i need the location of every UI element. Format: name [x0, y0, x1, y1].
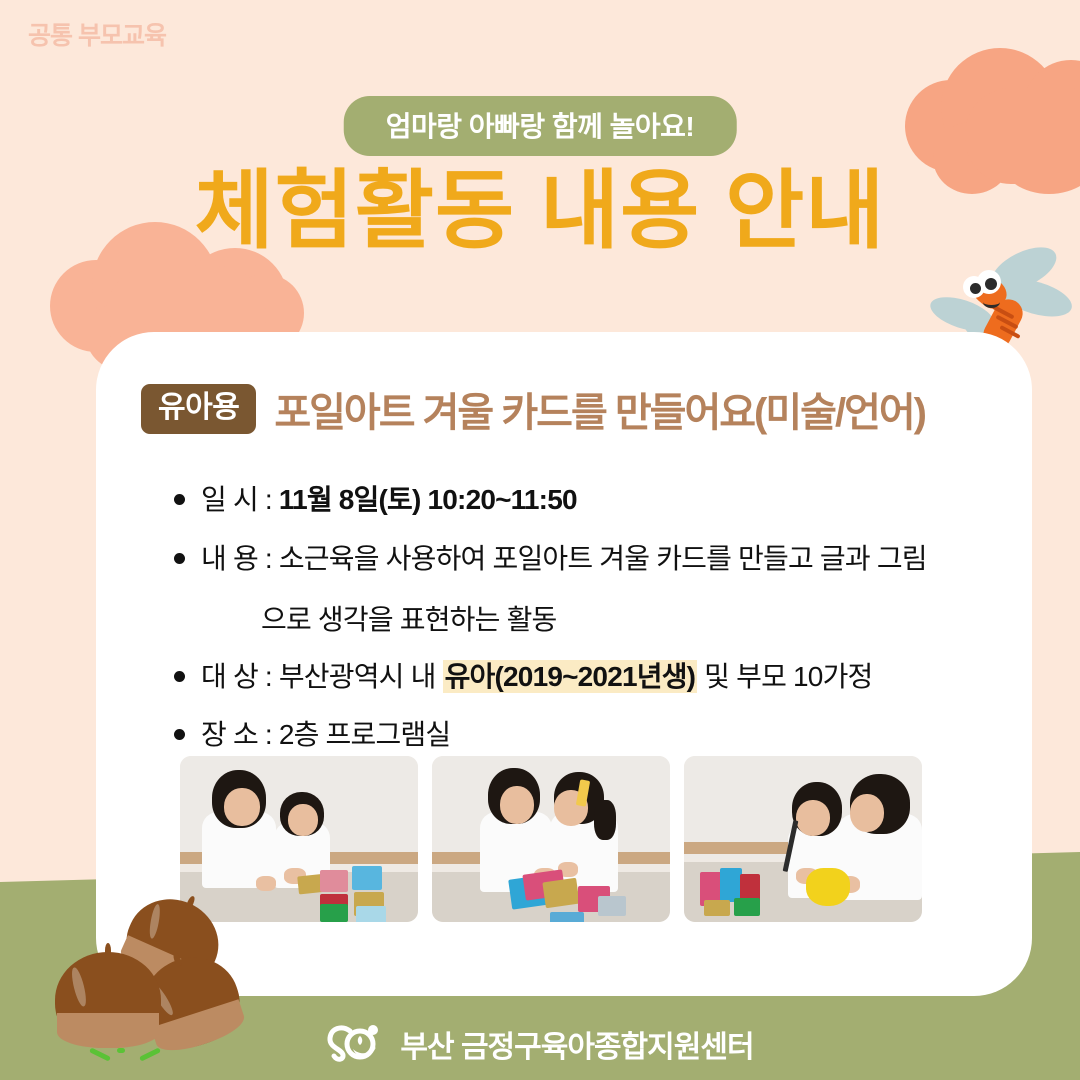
- bullet-dot-icon: [174, 671, 185, 682]
- detail-value-content-continued: 으로 생각을 표현하는 활동: [201, 598, 1004, 638]
- program-card: 유아용 포일아트 겨울 카드를 만들어요(미술/언어) 일 시 : 11월 8일…: [96, 332, 1032, 996]
- bullet-dot-icon: [174, 729, 185, 740]
- program-title: 포일아트 겨울 카드를 만들어요(미술/언어): [274, 380, 925, 438]
- detail-value-datetime: 11월 8일(토) 10:20~11:50: [279, 484, 577, 515]
- photo-strip: [180, 756, 922, 922]
- detail-value-content: 소근육을 사용하여 포일아트 겨울 카드를 만들고 글과 그림: [279, 543, 927, 574]
- detail-value-audience-post: 및 부모 10가정: [697, 661, 872, 692]
- subtitle-pill: 엄마랑 아빠랑 함께 놀아요!: [344, 96, 737, 156]
- center-logo-icon: [326, 1022, 386, 1066]
- footer-bar: 부산 금정구육아종합지원센터: [0, 1008, 1080, 1080]
- detail-row-content: 내 용 : 소근육을 사용하여 포일아트 겨울 카드를 만들고 글과 그림: [174, 539, 1004, 579]
- detail-label-datetime: 일 시 :: [201, 484, 272, 515]
- detail-row-datetime: 일 시 : 11월 8일(토) 10:20~11:50: [174, 480, 1004, 520]
- activity-photo-1: [180, 756, 418, 922]
- activity-photo-3: [684, 756, 922, 922]
- detail-value-location: 2층 프로그램실: [279, 719, 451, 750]
- detail-label-location: 장 소 :: [201, 719, 272, 750]
- bullet-dot-icon: [174, 553, 185, 564]
- detail-row-location: 장 소 : 2층 프로그램실: [174, 715, 1004, 755]
- detail-value-audience-highlight: 유아(2019~2021년생): [443, 660, 698, 693]
- activity-photo-2: [432, 756, 670, 922]
- footer-org-name: 부산 금정구육아종합지원센터: [400, 1022, 753, 1066]
- detail-label-content: 내 용 :: [201, 543, 272, 574]
- page-title: 체험활동 내용 안내: [0, 168, 1080, 254]
- kicker-text: 공통 부모교육: [28, 16, 166, 52]
- bullet-dot-icon: [174, 494, 185, 505]
- program-details-list: 일 시 : 11월 8일(토) 10:20~11:50 내 용 : 소근육을 사…: [174, 480, 1004, 774]
- program-header: 유아용 포일아트 겨울 카드를 만들어요(미술/언어): [141, 380, 925, 438]
- detail-row-audience: 대 상 : 부산광역시 내 유아(2019~2021년생) 및 부모 10가정: [174, 657, 1004, 697]
- poster-root: 공통 부모교육 엄마랑 아빠랑 함께 놀아요! 체험활동 내용 안내 유아용 포…: [0, 0, 1080, 1080]
- detail-value-audience-pre: 부산광역시 내: [279, 661, 443, 692]
- audience-badge: 유아용: [141, 384, 256, 434]
- detail-label-audience: 대 상 :: [201, 661, 272, 692]
